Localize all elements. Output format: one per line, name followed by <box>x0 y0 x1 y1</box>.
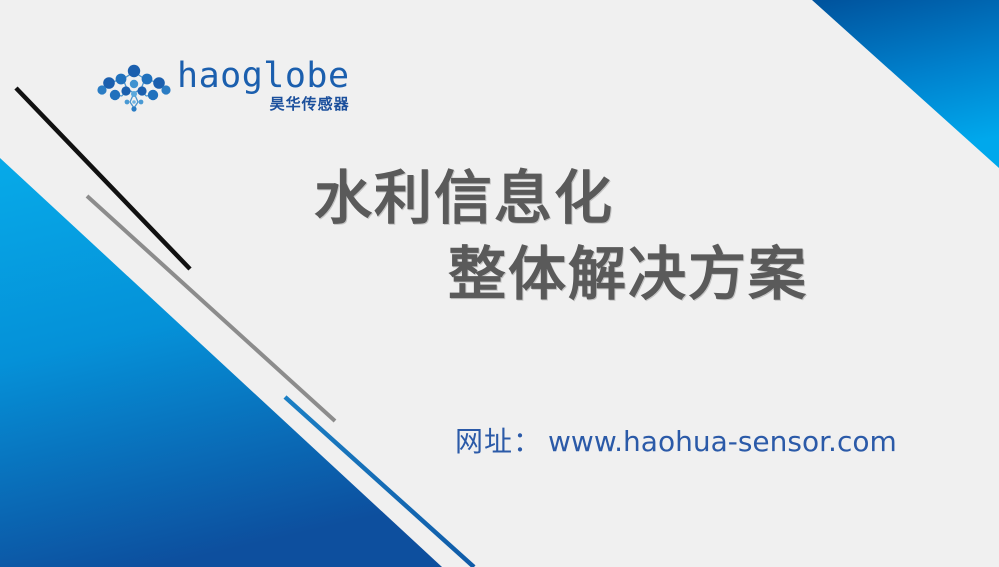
haoglobe-molecule-logo-icon <box>97 62 171 114</box>
logo-text-block: haoglobe 昊华传感器 <box>177 58 350 113</box>
website-url[interactable]: www.haohua-sensor.com <box>548 425 897 458</box>
website-row: 网址： www.haohua-sensor.com <box>455 420 897 460</box>
slide-title: 水利信息化 整体解决方案 <box>300 160 920 312</box>
logo-subtitle-chinese: 昊华传感器 <box>270 96 350 113</box>
title-line-1: 水利信息化 <box>314 160 920 236</box>
corner-triangle-top-right <box>812 0 999 168</box>
company-logo: haoglobe 昊华传感器 <box>97 58 329 120</box>
logo-wordmark: haoglobe <box>177 58 350 94</box>
website-label: 网址： <box>455 420 542 460</box>
title-line-2: 整体解决方案 <box>448 236 920 312</box>
title-slide: haoglobe 昊华传感器 水利信息化 整体解决方案 网址： www.haoh… <box>0 0 999 567</box>
